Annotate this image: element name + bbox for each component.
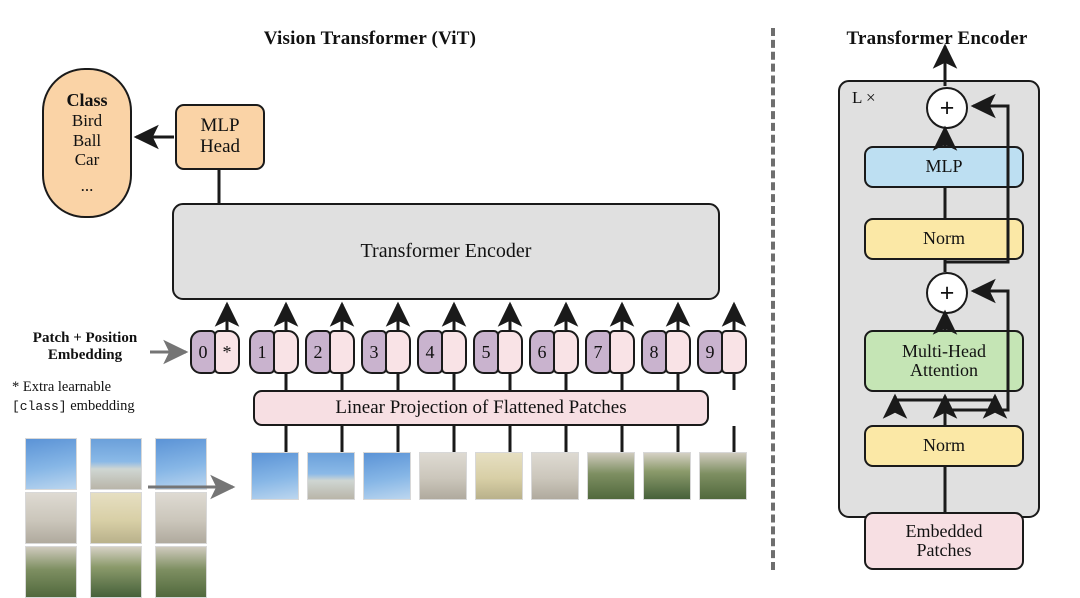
image-patch-9 — [155, 546, 207, 598]
token-2: 2 — [305, 330, 357, 374]
class-item: Ball — [73, 131, 101, 151]
token-index-8: 8 — [641, 330, 667, 374]
star-note-line1: * Extra learnable — [12, 378, 172, 397]
flattened-patch-1 — [251, 452, 299, 500]
token-embedding-5 — [497, 330, 523, 374]
token-index-5: 5 — [473, 330, 499, 374]
residual-add-top: + — [926, 87, 968, 129]
flattened-patch-2 — [307, 452, 355, 500]
flattened-patch-8 — [643, 452, 691, 500]
image-patch-5 — [90, 492, 142, 544]
patch-position-embedding-label: Patch + Position Embedding — [10, 330, 160, 365]
flattened-patch-7 — [587, 452, 635, 500]
flattened-patch-4 — [419, 452, 467, 500]
token-6: 6 — [529, 330, 581, 374]
class-item: ... — [81, 176, 94, 196]
token-index-0: 0 — [190, 330, 216, 374]
image-patch-3 — [155, 438, 207, 490]
token-1: 1 — [249, 330, 301, 374]
image-patch-4 — [25, 492, 77, 544]
flattened-patch-3 — [363, 452, 411, 500]
image-patch-7 — [25, 546, 77, 598]
token-index-4: 4 — [417, 330, 443, 374]
token-9: 9 — [697, 330, 749, 374]
multi-head-attention-block: Multi-Head Attention — [864, 330, 1024, 392]
class-token-mono: [class] — [12, 399, 67, 414]
token-8: 8 — [641, 330, 693, 374]
image-patch-6 — [155, 492, 207, 544]
residual-add-bottom: + — [926, 272, 968, 314]
transformer-encoder-title: Transformer Encoder — [812, 28, 1062, 50]
class-heading: Class — [66, 90, 107, 111]
image-patch-8 — [90, 546, 142, 598]
token-embedding-2 — [329, 330, 355, 374]
flattened-patch-6 — [531, 452, 579, 500]
token-5: 5 — [473, 330, 525, 374]
norm-block-top: Norm — [864, 218, 1024, 260]
star-note-suffix: embedding — [67, 398, 135, 414]
transformer-encoder-bar: Transformer Encoder — [172, 203, 720, 300]
pp-label-line2: Embedding — [10, 347, 160, 364]
token-embedding-3 — [385, 330, 411, 374]
repeat-count-label: L × — [852, 88, 876, 108]
pp-label-line1: Patch + Position — [10, 330, 160, 347]
panel-divider — [771, 28, 775, 570]
flattened-patch-5 — [475, 452, 523, 500]
token-embedding-1 — [273, 330, 299, 374]
embedded-patches-line2: Patches — [906, 541, 983, 560]
token-0: 0* — [190, 330, 242, 374]
token-embedding-4 — [441, 330, 467, 374]
image-patch-1 — [25, 438, 77, 490]
vit-title: Vision Transformer (ViT) — [110, 28, 630, 50]
mha-label-line2: Attention — [902, 361, 986, 380]
extra-learnable-note: * Extra learnable [class] embedding — [12, 378, 172, 416]
mlp-block: MLP — [864, 146, 1024, 188]
token-7: 7 — [585, 330, 637, 374]
token-4: 4 — [417, 330, 469, 374]
flattened-patch-9 — [699, 452, 747, 500]
token-index-2: 2 — [305, 330, 331, 374]
token-index-9: 9 — [697, 330, 723, 374]
class-token-marker: * — [214, 330, 240, 374]
class-item: Car — [75, 150, 100, 170]
embedded-patches-line1: Embedded — [906, 522, 983, 541]
mlp-head-label-line2: Head — [200, 137, 240, 158]
mlp-head-label-line1: MLP — [200, 116, 240, 137]
mha-label-line1: Multi-Head — [902, 342, 986, 361]
token-embedding-9 — [721, 330, 747, 374]
norm-block-bottom: Norm — [864, 425, 1024, 467]
token-index-6: 6 — [529, 330, 555, 374]
token-index-3: 3 — [361, 330, 387, 374]
token-index-1: 1 — [249, 330, 275, 374]
linear-projection-bar: Linear Projection of Flattened Patches — [253, 390, 709, 426]
token-index-7: 7 — [585, 330, 611, 374]
class-output-box: Class Bird Ball Car ... — [42, 68, 132, 218]
mlp-head-box: MLP Head — [175, 104, 265, 170]
image-patch-2 — [90, 438, 142, 490]
token-embedding-8 — [665, 330, 691, 374]
token-embedding-6 — [553, 330, 579, 374]
token-embedding-7 — [609, 330, 635, 374]
token-3: 3 — [361, 330, 413, 374]
class-item: Bird — [72, 111, 102, 131]
embedded-patches-block: Embedded Patches — [864, 512, 1024, 570]
